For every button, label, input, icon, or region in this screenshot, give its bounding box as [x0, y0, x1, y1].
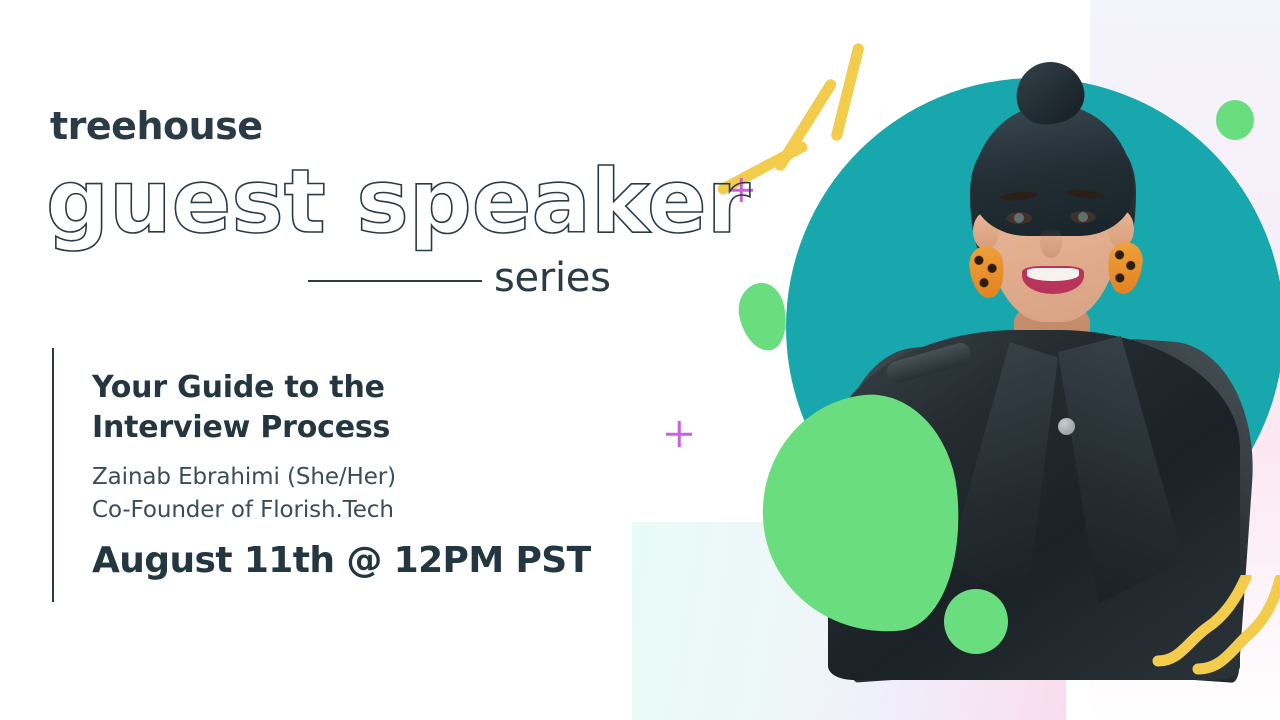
- talk-title: Your Guide to the Interview Process: [92, 368, 652, 447]
- page-title-outline: guest speaker: [46, 158, 750, 246]
- speaker-info: Zainab Ebrahimi (She/Her) Co-Founder of …: [92, 461, 652, 526]
- iris-right: [1078, 212, 1088, 222]
- teeth: [1027, 268, 1079, 281]
- event-datetime: August 11th @ 12PM PST: [92, 543, 652, 579]
- iris-left: [1014, 213, 1024, 223]
- series-label: series: [494, 258, 611, 298]
- yellow-squiggle-pair-icon: [1150, 575, 1280, 695]
- nose: [1040, 228, 1062, 258]
- talk-title-line-2: Interview Process: [92, 410, 390, 445]
- talk-title-line-1: Your Guide to the: [92, 370, 385, 405]
- speaker-role: Co-Founder of Florish.Tech: [92, 494, 652, 527]
- headline-divider-rule: [308, 280, 482, 282]
- leopard-earring-right-icon: [1105, 240, 1144, 295]
- green-blob-dot-bottom-icon: [944, 589, 1008, 654]
- treehouse-logo-wordmark: treehouse: [50, 107, 263, 145]
- magenta-plus-mark-2-icon: [666, 421, 692, 447]
- green-blob-small-icon: [733, 279, 792, 355]
- event-details-block: Your Guide to the Interview Process Zain…: [92, 368, 652, 579]
- event-block-accent-rule: [52, 348, 54, 602]
- jacket-snap-stud: [1058, 418, 1075, 435]
- guest-speaker-promo-slide: treehouse guest speaker series Your Guid…: [0, 0, 1280, 720]
- speaker-name: Zainab Ebrahimi (She/Her): [92, 461, 652, 494]
